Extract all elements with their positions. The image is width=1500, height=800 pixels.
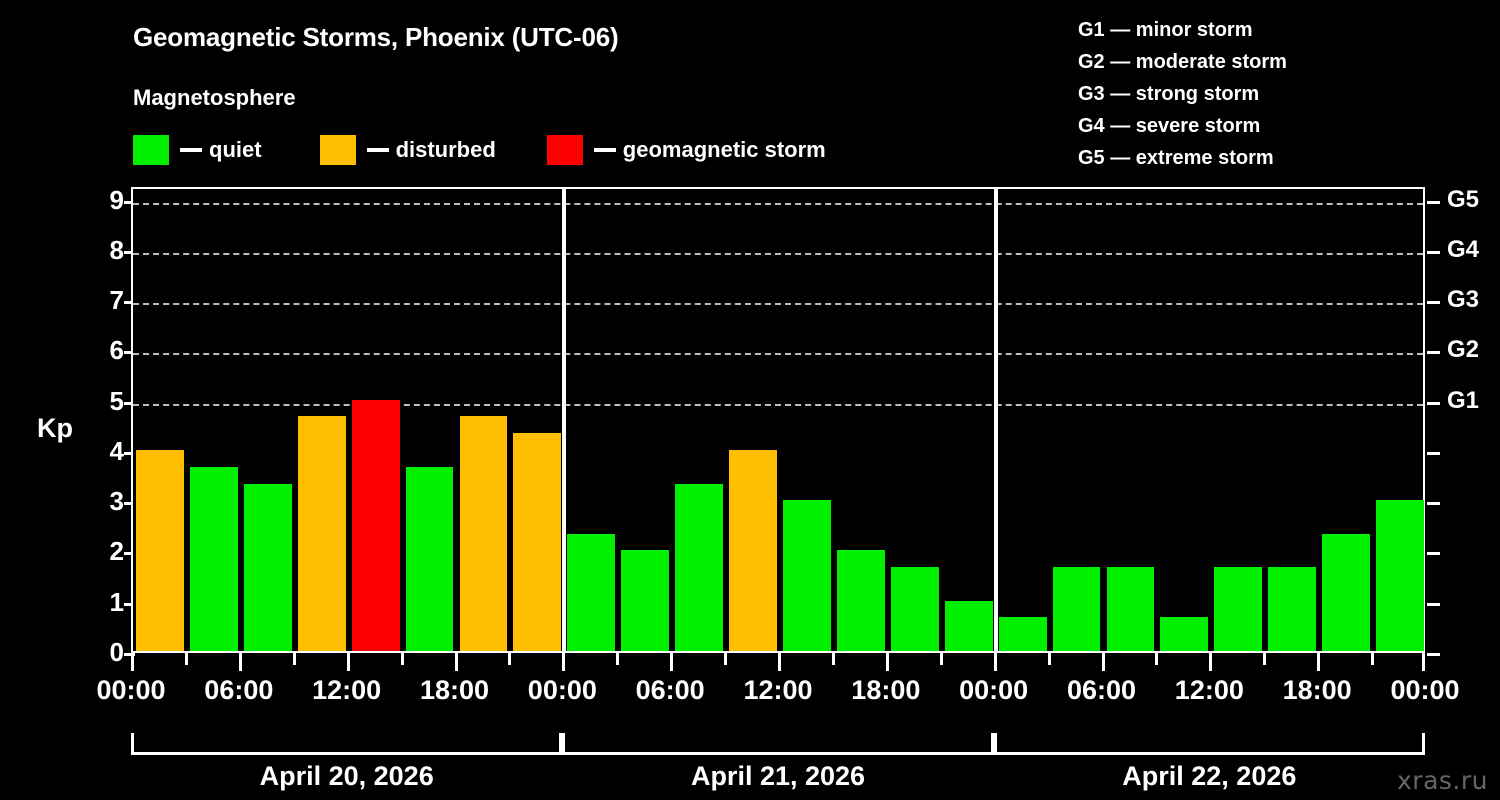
day-label-1: April 20, 2026 — [260, 761, 434, 792]
day-separator-1 — [562, 189, 566, 651]
time-tick-2 — [239, 653, 242, 671]
bar-day2-2100 — [945, 601, 993, 651]
g-axis-minor-tick-kp-6 — [1427, 351, 1440, 354]
bar-day3-0600 — [1107, 567, 1155, 651]
time-tick-21 — [1263, 653, 1266, 665]
time-tick-9 — [616, 653, 619, 665]
time-label-6: 12:00 — [743, 675, 812, 706]
day-label-3: April 22, 2026 — [1122, 761, 1296, 792]
legend-label: geomagnetic storm — [623, 137, 826, 163]
bar-day1-0600 — [244, 484, 292, 651]
quiet-swatch-icon — [133, 135, 169, 165]
time-tick-4 — [347, 653, 350, 671]
g-axis-minor-tick-kp-2 — [1427, 552, 1440, 555]
time-tick-18 — [1102, 653, 1105, 671]
bar-day1-1200 — [352, 400, 400, 651]
time-tick-10 — [670, 653, 673, 671]
gridline-kp-7 — [133, 303, 1423, 305]
time-tick-11 — [724, 653, 727, 665]
time-label-10: 12:00 — [1175, 675, 1244, 706]
bar-day3-1200 — [1214, 567, 1262, 651]
kp-tick-label-2: 2 — [78, 538, 124, 564]
legend-dash-icon — [594, 148, 616, 152]
time-tick-5 — [401, 653, 404, 665]
day-bracket-1 — [131, 733, 562, 755]
g-axis-minor-tick-kp-4 — [1427, 452, 1440, 455]
kp-tick-label-6: 6 — [78, 337, 124, 363]
time-label-12: 00:00 — [1390, 675, 1459, 706]
bar-day3-0900 — [1160, 617, 1208, 651]
g-legend-row-4: G4 — severe storm — [1078, 110, 1287, 142]
color-legend: quietdisturbedgeomagnetic storm — [133, 133, 826, 167]
watermark: xras.ru — [1397, 766, 1488, 795]
time-tick-13 — [832, 653, 835, 665]
legend-item-storm: geomagnetic storm — [547, 133, 826, 167]
kp-tick-label-9: 9 — [78, 187, 124, 213]
y-axis-title: Kp — [37, 413, 73, 444]
legend-item-quiet: quiet — [133, 133, 262, 167]
time-tick-3 — [293, 653, 296, 665]
time-tick-7 — [508, 653, 511, 665]
time-label-0: 00:00 — [96, 675, 165, 706]
time-label-3: 18:00 — [420, 675, 489, 706]
time-tick-15 — [940, 653, 943, 665]
time-tick-8 — [562, 653, 565, 671]
bar-day2-0900 — [729, 450, 777, 651]
bar-day1-0900 — [298, 416, 346, 651]
kp-tick-label-0: 0 — [78, 639, 124, 665]
time-tick-22 — [1317, 653, 1320, 671]
g-legend-row-2: G2 — moderate storm — [1078, 46, 1287, 78]
time-tick-17 — [1048, 653, 1051, 665]
g-scale-axis: G1G2G3G4G5 — [1427, 187, 1497, 653]
bar-day3-0000 — [999, 617, 1047, 651]
disturbed-swatch-icon — [320, 135, 356, 165]
g-legend-row-5: G5 — extreme storm — [1078, 142, 1287, 174]
g-legend-row-3: G3 — strong storm — [1078, 78, 1287, 110]
legend-label: quiet — [209, 137, 262, 163]
g-scale-legend: G1 — minor stormG2 — moderate stormG3 — … — [1078, 14, 1287, 174]
kp-tick-label-1: 1 — [78, 589, 124, 615]
legend-label: disturbed — [396, 137, 496, 163]
kp-tick-label-3: 3 — [78, 488, 124, 514]
gridline-kp-8 — [133, 253, 1423, 255]
kp-tick-label-5: 5 — [78, 388, 124, 414]
kp-tick-label-4: 4 — [78, 438, 124, 464]
bar-day2-1500 — [837, 550, 885, 651]
time-tick-0 — [131, 653, 134, 671]
time-tick-16 — [994, 653, 997, 671]
time-label-7: 18:00 — [851, 675, 920, 706]
gridline-kp-6 — [133, 353, 1423, 355]
kp-tick-label-7: 7 — [78, 287, 124, 313]
bar-day2-1200 — [783, 500, 831, 651]
bar-day2-0600 — [675, 484, 723, 651]
g-axis-label-G3: G3 — [1447, 288, 1479, 312]
legend-dash-icon — [180, 148, 202, 152]
day-label-2: April 21, 2026 — [691, 761, 865, 792]
time-tick-6 — [455, 653, 458, 671]
bar-day1-0000 — [136, 450, 184, 651]
g-axis-label-G1: G1 — [1447, 389, 1479, 413]
time-tick-19 — [1155, 653, 1158, 665]
bar-day3-1800 — [1322, 534, 1370, 651]
bar-day2-0300 — [621, 550, 669, 651]
bar-day3-1500 — [1268, 567, 1316, 651]
bar-day1-1800 — [460, 416, 508, 651]
legend-item-disturbed: disturbed — [320, 133, 496, 167]
gridline-kp-5 — [133, 404, 1423, 406]
g-axis-minor-tick-kp-8 — [1427, 251, 1440, 254]
day-separator-2 — [994, 189, 998, 651]
bar-day1-2100 — [513, 433, 561, 651]
time-label-2: 12:00 — [312, 675, 381, 706]
g-axis-minor-tick-kp-7 — [1427, 301, 1440, 304]
bar-day1-1500 — [406, 467, 454, 651]
day-brackets: April 20, 2026April 21, 2026April 22, 20… — [131, 733, 1425, 795]
day-bracket-2 — [562, 733, 993, 755]
time-tick-20 — [1209, 653, 1212, 671]
chart-subtitle: Magnetosphere — [133, 85, 296, 111]
g-axis-label-G2: G2 — [1447, 338, 1479, 362]
bar-day2-0000 — [567, 534, 615, 651]
g-axis-label-G4: G4 — [1447, 238, 1479, 262]
day-bracket-3 — [994, 733, 1425, 755]
g-axis-minor-tick-kp-3 — [1427, 502, 1440, 505]
page-title: Geomagnetic Storms, Phoenix (UTC-06) — [133, 22, 618, 53]
gridline-kp-9 — [133, 203, 1423, 205]
g-axis-minor-tick-kp-5 — [1427, 402, 1440, 405]
time-label-8: 00:00 — [959, 675, 1028, 706]
storm-swatch-icon — [547, 135, 583, 165]
geomagnetic-storm-chart: Geomagnetic Storms, Phoenix (UTC-06) Mag… — [0, 0, 1500, 800]
time-label-4: 00:00 — [528, 675, 597, 706]
time-tick-12 — [778, 653, 781, 671]
legend-dash-icon — [367, 148, 389, 152]
time-label-9: 06:00 — [1067, 675, 1136, 706]
time-tick-23 — [1371, 653, 1374, 665]
time-axis: 00:0006:0012:0018:0000:0006:0012:0018:00… — [131, 653, 1425, 723]
time-tick-24 — [1422, 653, 1425, 671]
g-legend-row-1: G1 — minor storm — [1078, 14, 1287, 46]
g-axis-minor-tick-kp-9 — [1427, 201, 1440, 204]
kp-tick-label-8: 8 — [78, 237, 124, 263]
time-tick-14 — [886, 653, 889, 671]
bar-day3-2100 — [1376, 500, 1424, 651]
g-axis-minor-tick-kp-1 — [1427, 603, 1440, 606]
bar-day3-0300 — [1053, 567, 1101, 651]
g-axis-label-G5: G5 — [1447, 188, 1479, 212]
time-label-1: 06:00 — [204, 675, 273, 706]
g-axis-minor-tick-kp-0 — [1427, 653, 1440, 656]
bar-day2-1800 — [891, 567, 939, 651]
time-tick-1 — [185, 653, 188, 665]
bar-day1-0300 — [190, 467, 238, 651]
time-label-11: 18:00 — [1283, 675, 1352, 706]
time-label-5: 06:00 — [636, 675, 705, 706]
plot-area — [131, 187, 1425, 653]
